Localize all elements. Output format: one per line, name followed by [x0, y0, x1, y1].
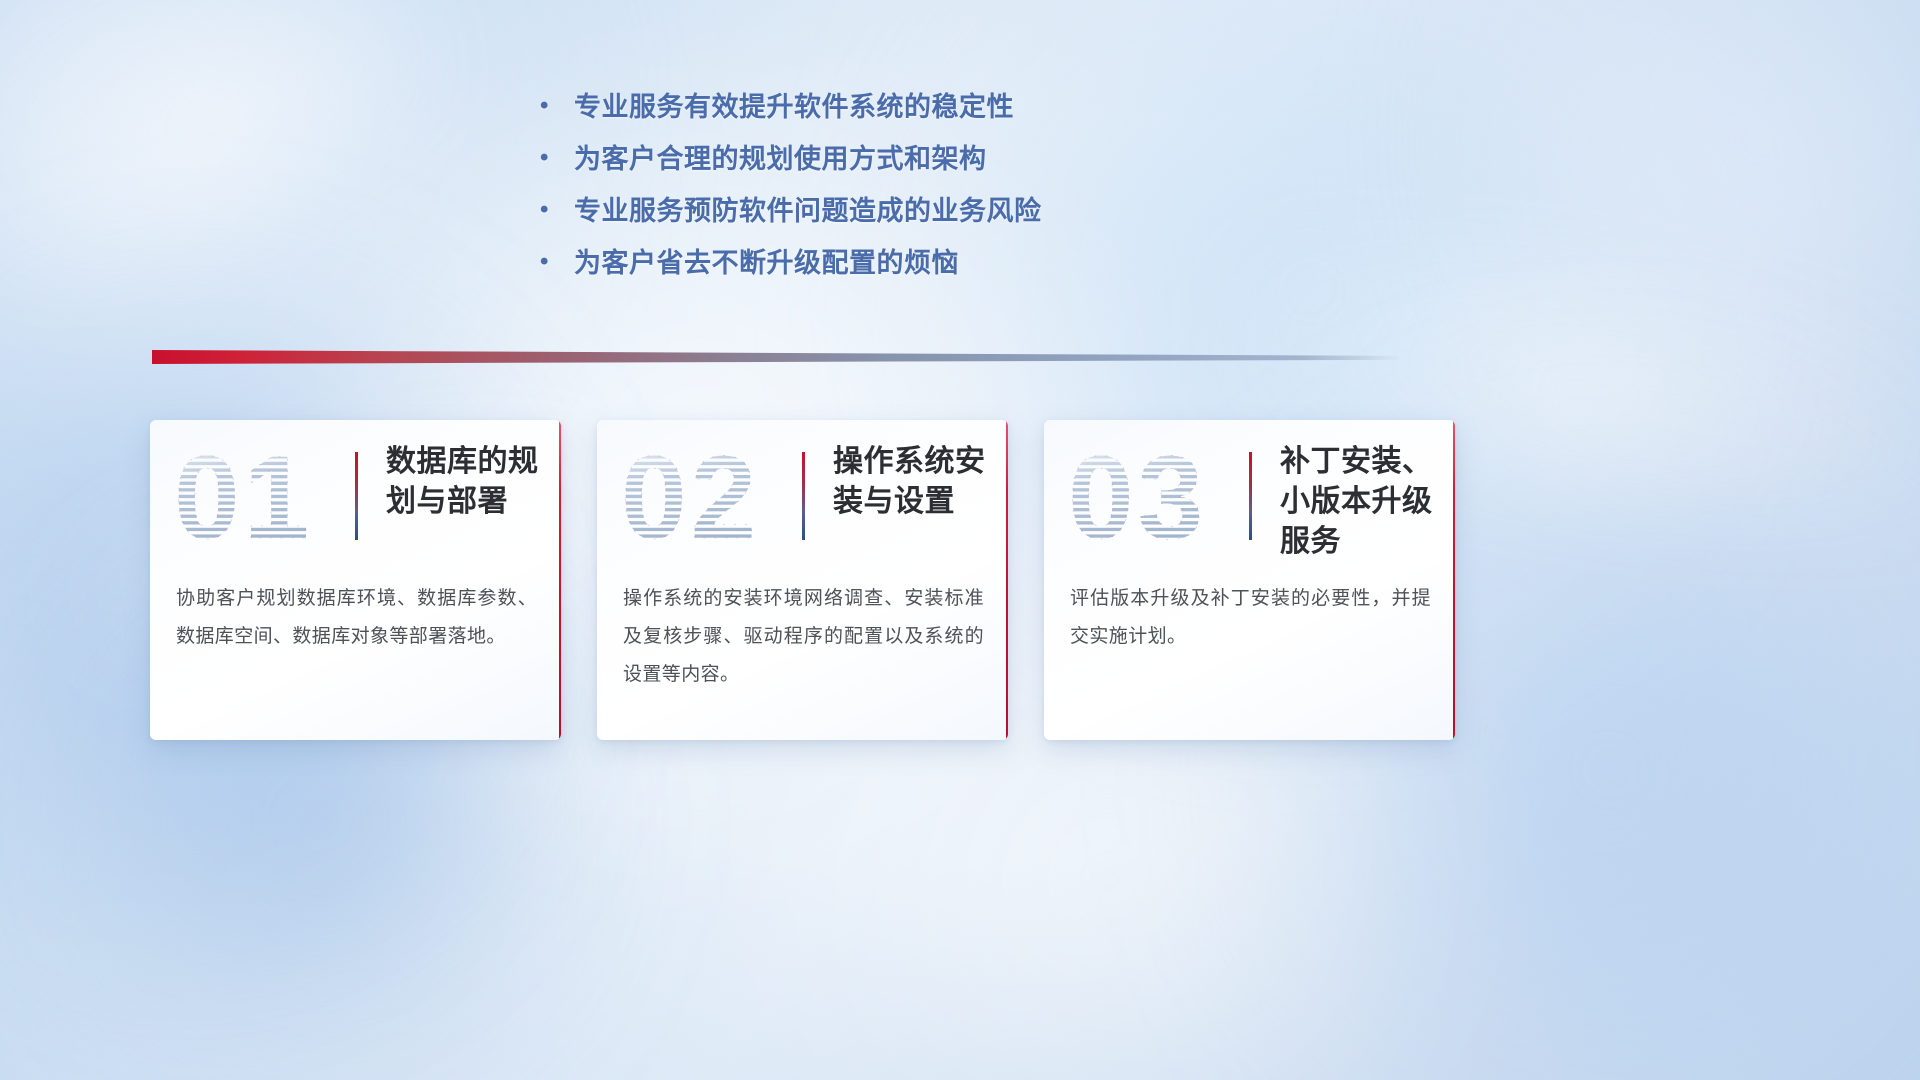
card-title: 操作系统安装与设置 [833, 442, 994, 522]
svg-text:02: 02 [621, 442, 760, 554]
bullet-dot-icon: • [540, 196, 574, 224]
svg-text:03: 03 [1068, 442, 1207, 554]
card-accent-bar [355, 452, 358, 540]
list-item-label: 专业服务预防软件问题造成的业务风险 [574, 196, 1042, 227]
section-divider [152, 350, 1402, 364]
card-number-watermark: 01 01 [174, 442, 359, 554]
service-card-list: 01 01 数据库的规划与部署 协助客户规划数据库环境、数据库参数、数据库空间、… [150, 420, 1455, 745]
list-item: • 专业服务预防软件问题造成的业务风险 [540, 196, 1180, 248]
svg-text:01: 01 [174, 442, 313, 554]
card-description: 操作系统的安装环境网络调查、安装标准及复核步骤、驱动程序的配置以及系统的设置等内… [623, 580, 984, 694]
service-card[interactable]: 03 03 补丁安装、小版本升级服务 评估版本升级及补丁安装的必要性，并提交实施… [1044, 420, 1455, 740]
card-title: 补丁安装、小版本升级服务 [1280, 442, 1441, 563]
card-number-watermark: 02 02 [621, 442, 806, 554]
card-accent-bar [1249, 452, 1252, 540]
card-header: 03 03 补丁安装、小版本升级服务 [1044, 420, 1455, 572]
list-item-label: 专业服务有效提升软件系统的稳定性 [574, 92, 1014, 123]
card-header: 01 01 数据库的规划与部署 [150, 420, 561, 572]
card-header: 02 02 操作系统安装与设置 [597, 420, 1008, 572]
card-accent-bar [802, 452, 805, 540]
card-number-watermark: 03 03 [1068, 442, 1253, 554]
list-item: • 为客户合理的规划使用方式和架构 [540, 144, 1180, 196]
list-item: • 为客户省去不断升级配置的烦恼 [540, 248, 1180, 300]
bullet-dot-icon: • [540, 92, 574, 120]
benefits-bullet-list: • 专业服务有效提升软件系统的稳定性 • 为客户合理的规划使用方式和架构 • 专… [540, 92, 1180, 300]
bullet-dot-icon: • [540, 144, 574, 172]
card-description: 协助客户规划数据库环境、数据库参数、数据库空间、数据库对象等部署落地。 [176, 580, 537, 656]
service-card[interactable]: 02 02 操作系统安装与设置 操作系统的安装环境网络调查、安装标准及复核步骤、… [597, 420, 1008, 740]
bullet-dot-icon: • [540, 248, 574, 276]
list-item-label: 为客户合理的规划使用方式和架构 [574, 144, 987, 175]
divider-gradient-line [152, 350, 1402, 364]
list-item: • 专业服务有效提升软件系统的稳定性 [540, 92, 1180, 144]
card-title: 数据库的规划与部署 [386, 442, 547, 522]
service-card[interactable]: 01 01 数据库的规划与部署 协助客户规划数据库环境、数据库参数、数据库空间、… [150, 420, 561, 740]
list-item-label: 为客户省去不断升级配置的烦恼 [574, 248, 959, 279]
card-description: 评估版本升级及补丁安装的必要性，并提交实施计划。 [1070, 580, 1431, 656]
